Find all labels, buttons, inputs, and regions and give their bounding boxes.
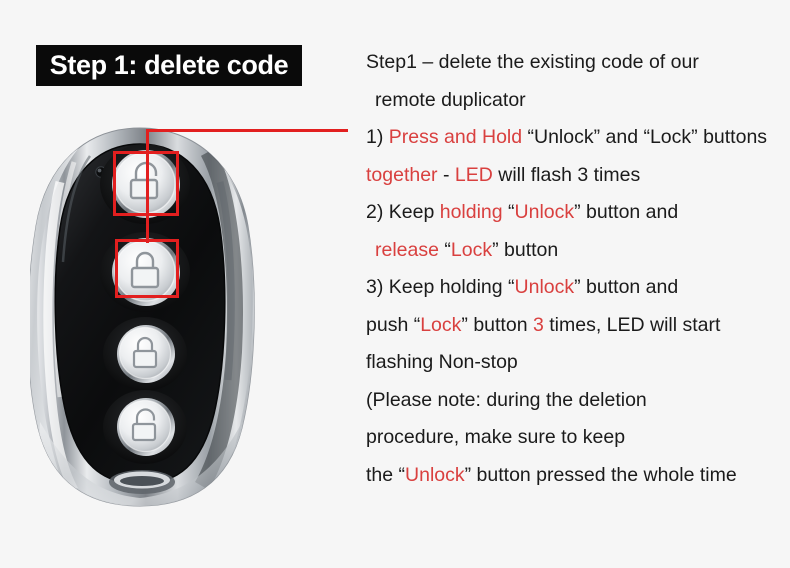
instruction-line: 1) Press and Hold “Unlock” and “Lock” bu… (366, 119, 790, 157)
emphasis-text: LED (455, 164, 493, 186)
instruction-line: procedure, make sure to keep (366, 419, 790, 457)
step-title-banner: Step 1: delete code (36, 45, 302, 86)
body-text: 3) Keep holding “ (366, 276, 515, 298)
emphasis-text: Press and Hold (389, 126, 522, 148)
instruction-line: (Please note: during the deletion (366, 382, 790, 420)
body-text: ” button (492, 239, 558, 261)
instruction-line: flashing Non-stop (366, 344, 790, 382)
instruction-line: remote duplicator (366, 82, 790, 120)
emphasis-text: 3 (533, 314, 544, 336)
emphasis-text: Lock (451, 239, 492, 261)
emphasis-text: Unlock (515, 201, 575, 223)
emphasis-text: Lock (420, 314, 461, 336)
button-unlock (100, 144, 190, 224)
body-text: push “ (366, 314, 420, 336)
body-text: “ (439, 239, 451, 261)
instruction-text-block: Step1 – delete the existing code of ourr… (366, 44, 790, 494)
body-text: Step1 – delete the existing code of our (366, 51, 699, 73)
instruction-line: push “Lock” button 3 times, LED will sta… (366, 307, 790, 345)
button-lock (100, 232, 190, 312)
body-text: flashing Non-stop (366, 351, 518, 373)
body-text: the “ (366, 464, 405, 486)
instruction-line: release “Lock” button (366, 232, 790, 270)
body-text: ” button pressed the whole time (465, 464, 737, 486)
button-unlock-2 (103, 390, 187, 464)
body-text: ” button and (574, 201, 678, 223)
body-text: 1) (366, 126, 389, 148)
button-lock-2 (103, 317, 187, 391)
remote-control-image (30, 122, 275, 512)
emphasis-text: release (375, 239, 439, 261)
body-text: remote duplicator (375, 89, 526, 111)
body-text: (Please note: during the deletion (366, 389, 647, 411)
instruction-line: together - LED will flash 3 times (366, 157, 790, 195)
body-text: “Unlock” and “Lock” buttons (522, 126, 767, 148)
page-title: Step 1: delete code (50, 52, 288, 79)
body-text: 2) Keep (366, 201, 440, 223)
body-text: procedure, make sure to keep (366, 426, 625, 448)
body-text: “ (503, 201, 515, 223)
slide-canvas: Step 1: delete code (0, 0, 790, 568)
body-text: will flash 3 times (493, 164, 640, 186)
instruction-line: 2) Keep holding “Unlock” button and (366, 194, 790, 232)
instruction-line: 3) Keep holding “Unlock” button and (366, 269, 790, 307)
instruction-line: Step1 – delete the existing code of our (366, 44, 790, 82)
emphasis-text: Unlock (405, 464, 465, 486)
body-text: ” button (461, 314, 533, 336)
emphasis-text: Unlock (515, 276, 575, 298)
body-text: times, LED will start (544, 314, 721, 336)
body-text: - (438, 164, 455, 186)
emphasis-text: together (366, 164, 438, 186)
instruction-line: the “Unlock” button pressed the whole ti… (366, 457, 790, 495)
body-text: ” button and (574, 276, 678, 298)
emphasis-text: holding (440, 201, 503, 223)
